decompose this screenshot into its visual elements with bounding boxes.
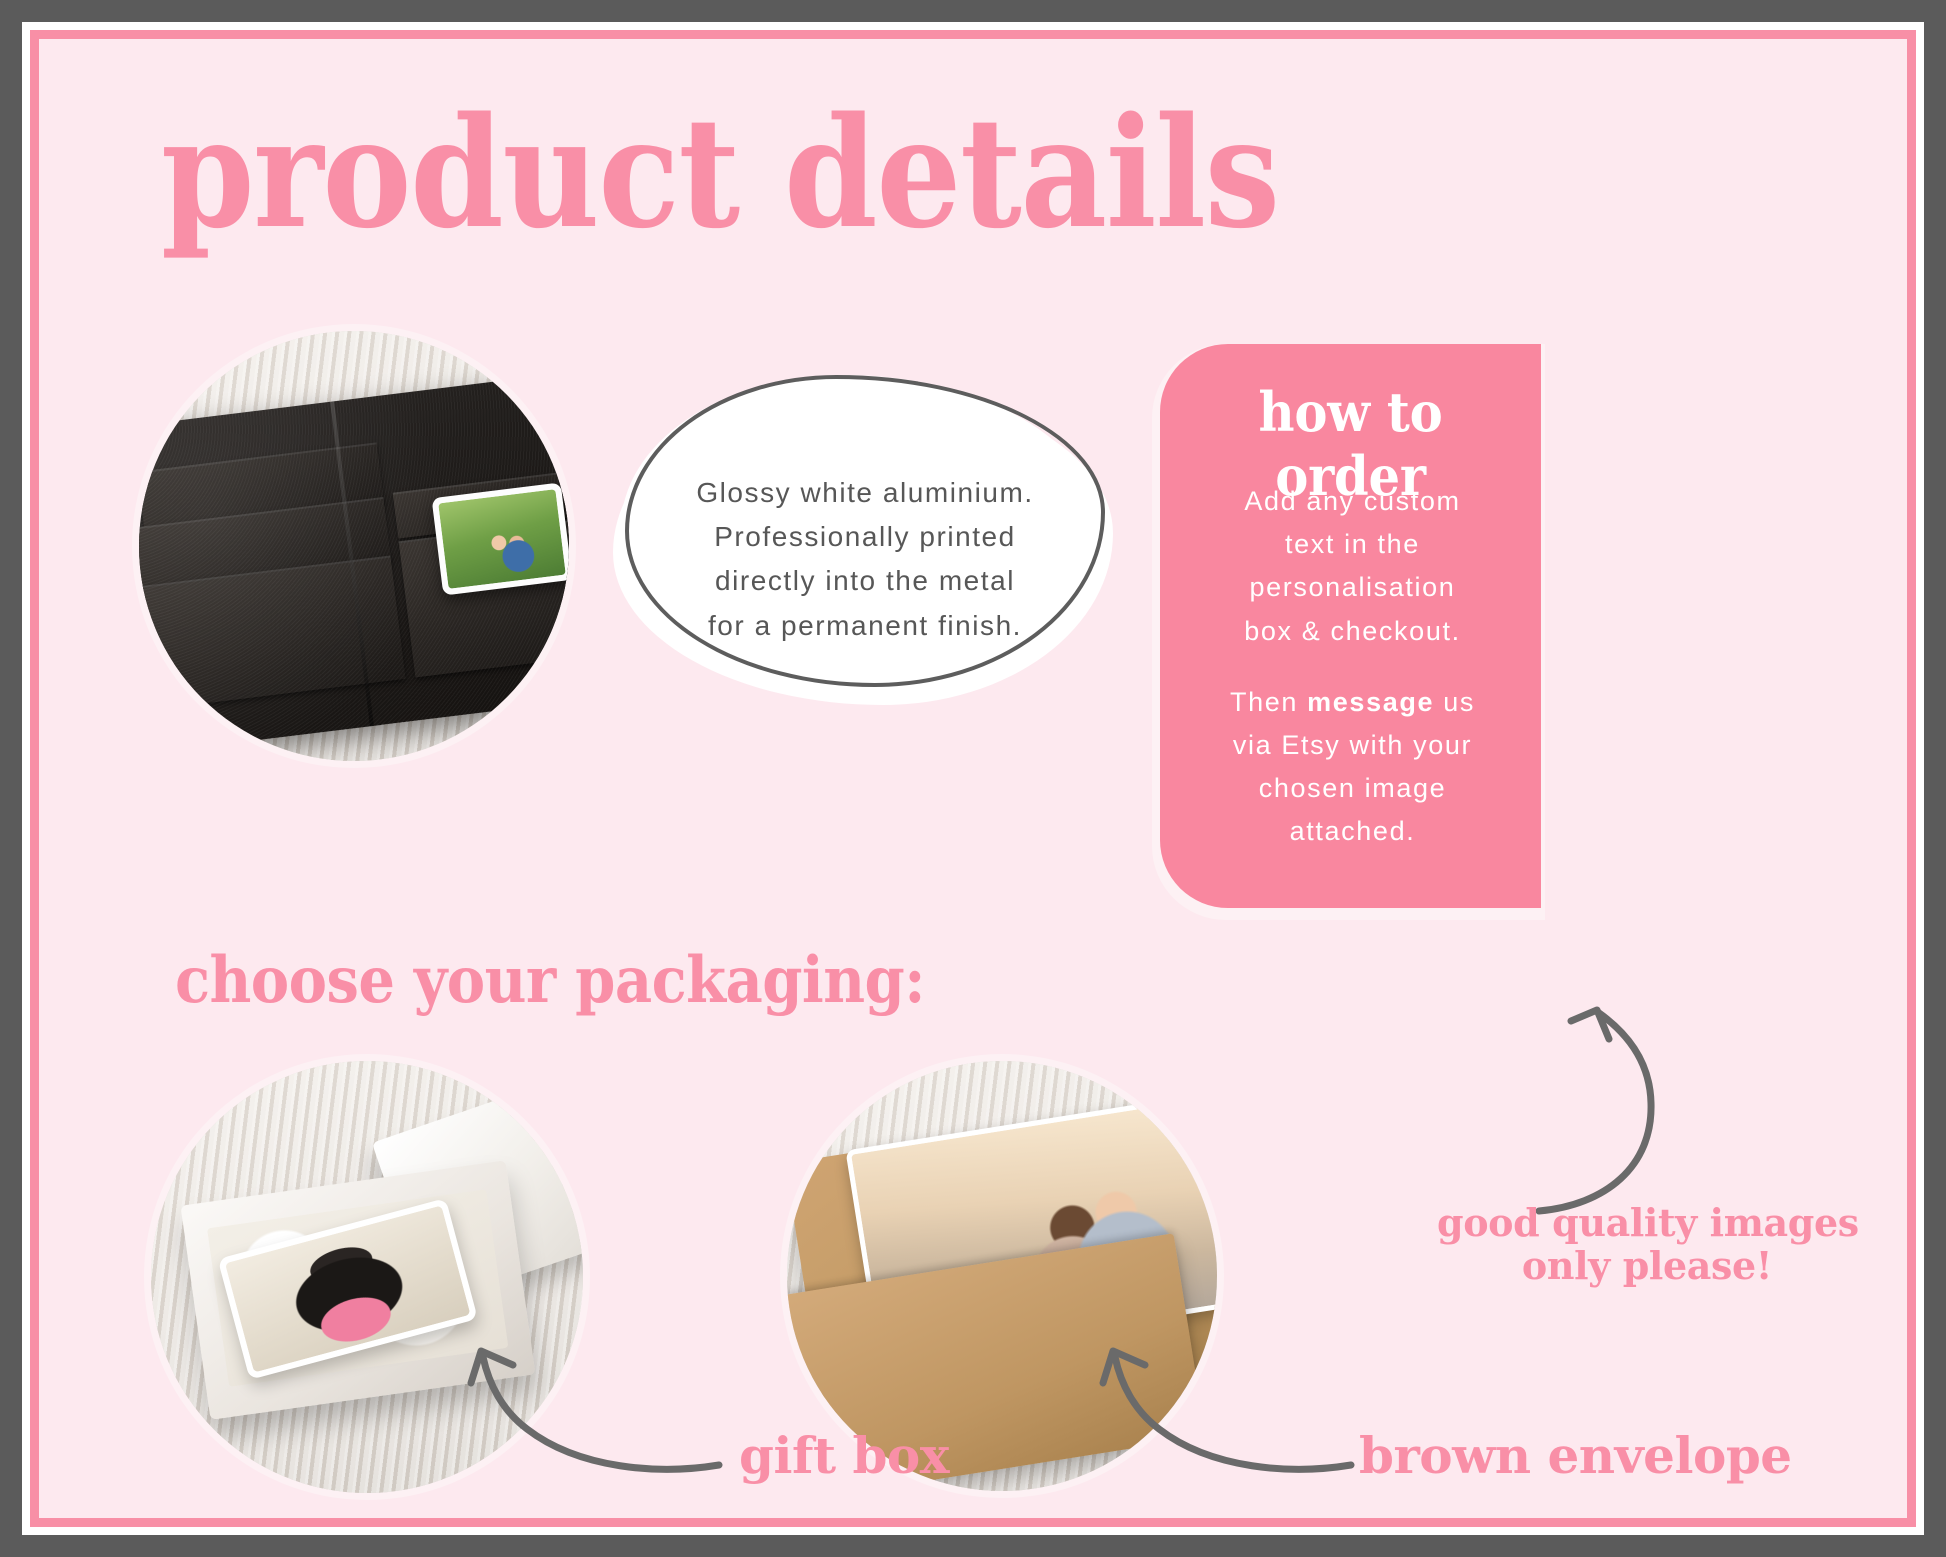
howto-line-message: Then message us [1184, 681, 1521, 724]
howto-line: via Etsy with your [1184, 724, 1521, 767]
message-emphasis: message [1307, 687, 1434, 717]
envelope-label: brown envelope [1359, 1431, 1792, 1481]
howto-line: Add any custom [1184, 480, 1521, 523]
how-to-order-body: Add any custom text in the personalisati… [1184, 480, 1521, 854]
packaging-heading: choose your packaging: [175, 949, 925, 1013]
howto-line: attached. [1184, 810, 1521, 853]
giftbox-label: gift box [739, 1431, 949, 1481]
callout-line: Glossy white aluminium. [639, 471, 1091, 515]
howto-line: chosen image [1184, 767, 1521, 810]
wallet-photo [139, 331, 569, 761]
wallet-fold-crease [329, 401, 373, 726]
giftbox-arrow-icon [469, 1339, 739, 1479]
callout-line: for a permanent finish. [639, 604, 1091, 648]
envelope-arrow-icon [1099, 1339, 1369, 1479]
how-to-order-panel: how to order Add any custom text in the … [1160, 344, 1541, 908]
howto-line: box & checkout. [1184, 610, 1521, 653]
listing-canvas: product details [39, 39, 1907, 1518]
material-callout: Glossy white aluminium. Professionally p… [603, 371, 1121, 711]
wallet-card-slot [139, 442, 384, 533]
howto-line: text in the [1184, 523, 1521, 566]
callout-line: Professionally printed [639, 515, 1091, 559]
callout-text: Glossy white aluminium. Professionally p… [639, 471, 1091, 648]
howto-suffix: us [1434, 687, 1475, 717]
quality-note-arrow-icon [1419, 999, 1699, 1229]
page-title: product details [161, 97, 1279, 249]
listing-image: product details [22, 22, 1924, 1535]
howto-line: personalisation [1184, 566, 1521, 609]
wallet-card-slot [139, 497, 391, 592]
photo-card-insert [432, 483, 569, 596]
howto-prefix: Then [1230, 687, 1307, 717]
callout-line: directly into the metal [639, 559, 1091, 603]
paragraph-gap [1184, 653, 1521, 681]
quality-note-label: good quality images only please! [1437, 1202, 1857, 1287]
pink-border-frame: product details [30, 30, 1916, 1527]
family-photo-image [438, 489, 566, 589]
quality-note-line: only please! [1437, 1245, 1857, 1288]
quality-note-line: good quality images [1437, 1202, 1857, 1245]
wallet-card-slot [139, 555, 406, 710]
